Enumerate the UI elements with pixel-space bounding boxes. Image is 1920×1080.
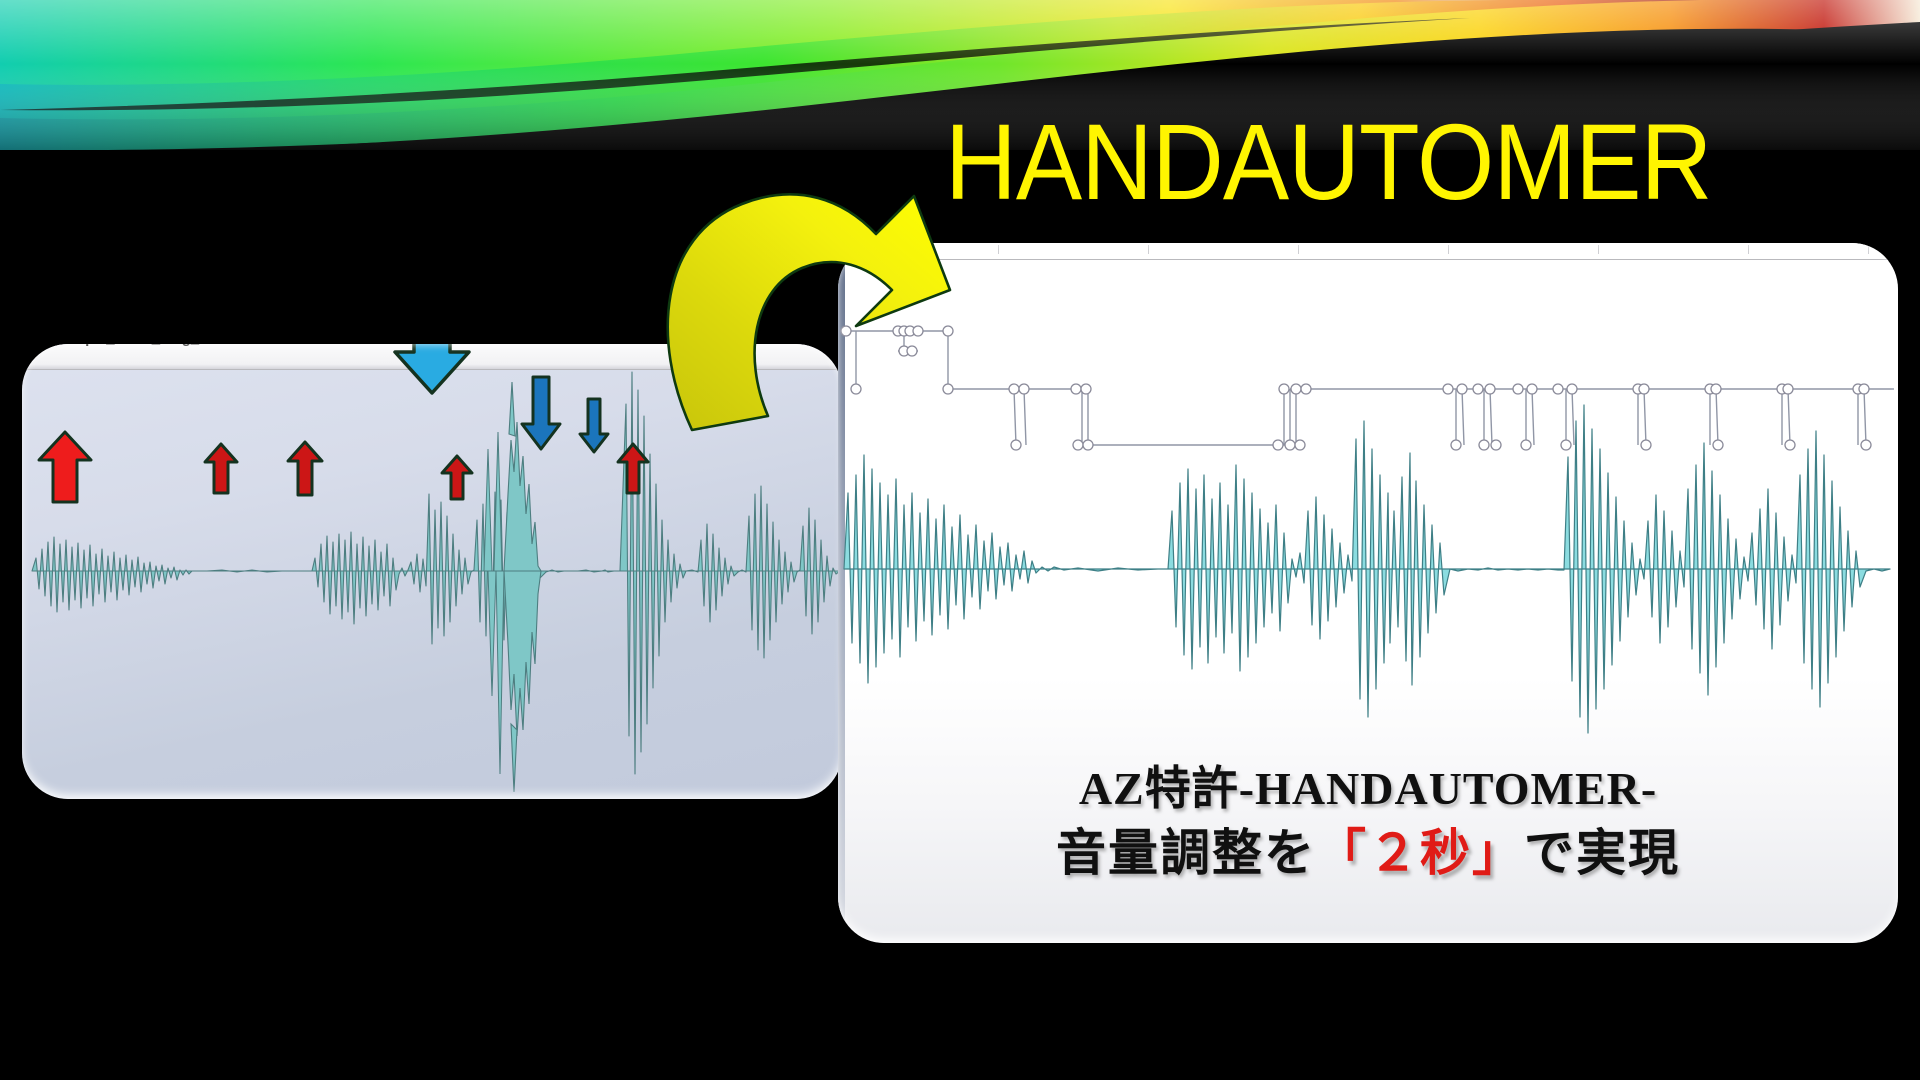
marker-cut-large: [392, 344, 472, 396]
marker-boost-small-2: [616, 442, 650, 496]
caption-suffix: で実現: [1524, 825, 1680, 881]
marker-boost-large: [36, 430, 94, 506]
filename-label-before: mple_voice_long_women-001.wav: [72, 344, 310, 347]
marker-boost-small-1: [440, 454, 474, 502]
caption-highlight: 「２秒」: [1316, 825, 1524, 881]
curved-transform-arrow: [630, 130, 1060, 440]
slide-canvas: HANDAUTOMER mple_voice_lo: [0, 0, 1920, 1080]
caption-prefix: 音量調整を: [1056, 825, 1316, 881]
caption-block: AZ特許-HANDAUTOMER- 音量調整を「２秒」で実現: [838, 760, 1898, 886]
caption-line-1: AZ特許-HANDAUTOMER-: [838, 760, 1898, 819]
marker-cut-medium: [519, 374, 563, 452]
marker-cut-small: [577, 396, 611, 454]
marker-boost-medium-2: [286, 440, 324, 498]
marker-boost-medium-1: [203, 442, 239, 496]
caption-line-2: 音量調整を「２秒」で実現: [838, 821, 1898, 886]
